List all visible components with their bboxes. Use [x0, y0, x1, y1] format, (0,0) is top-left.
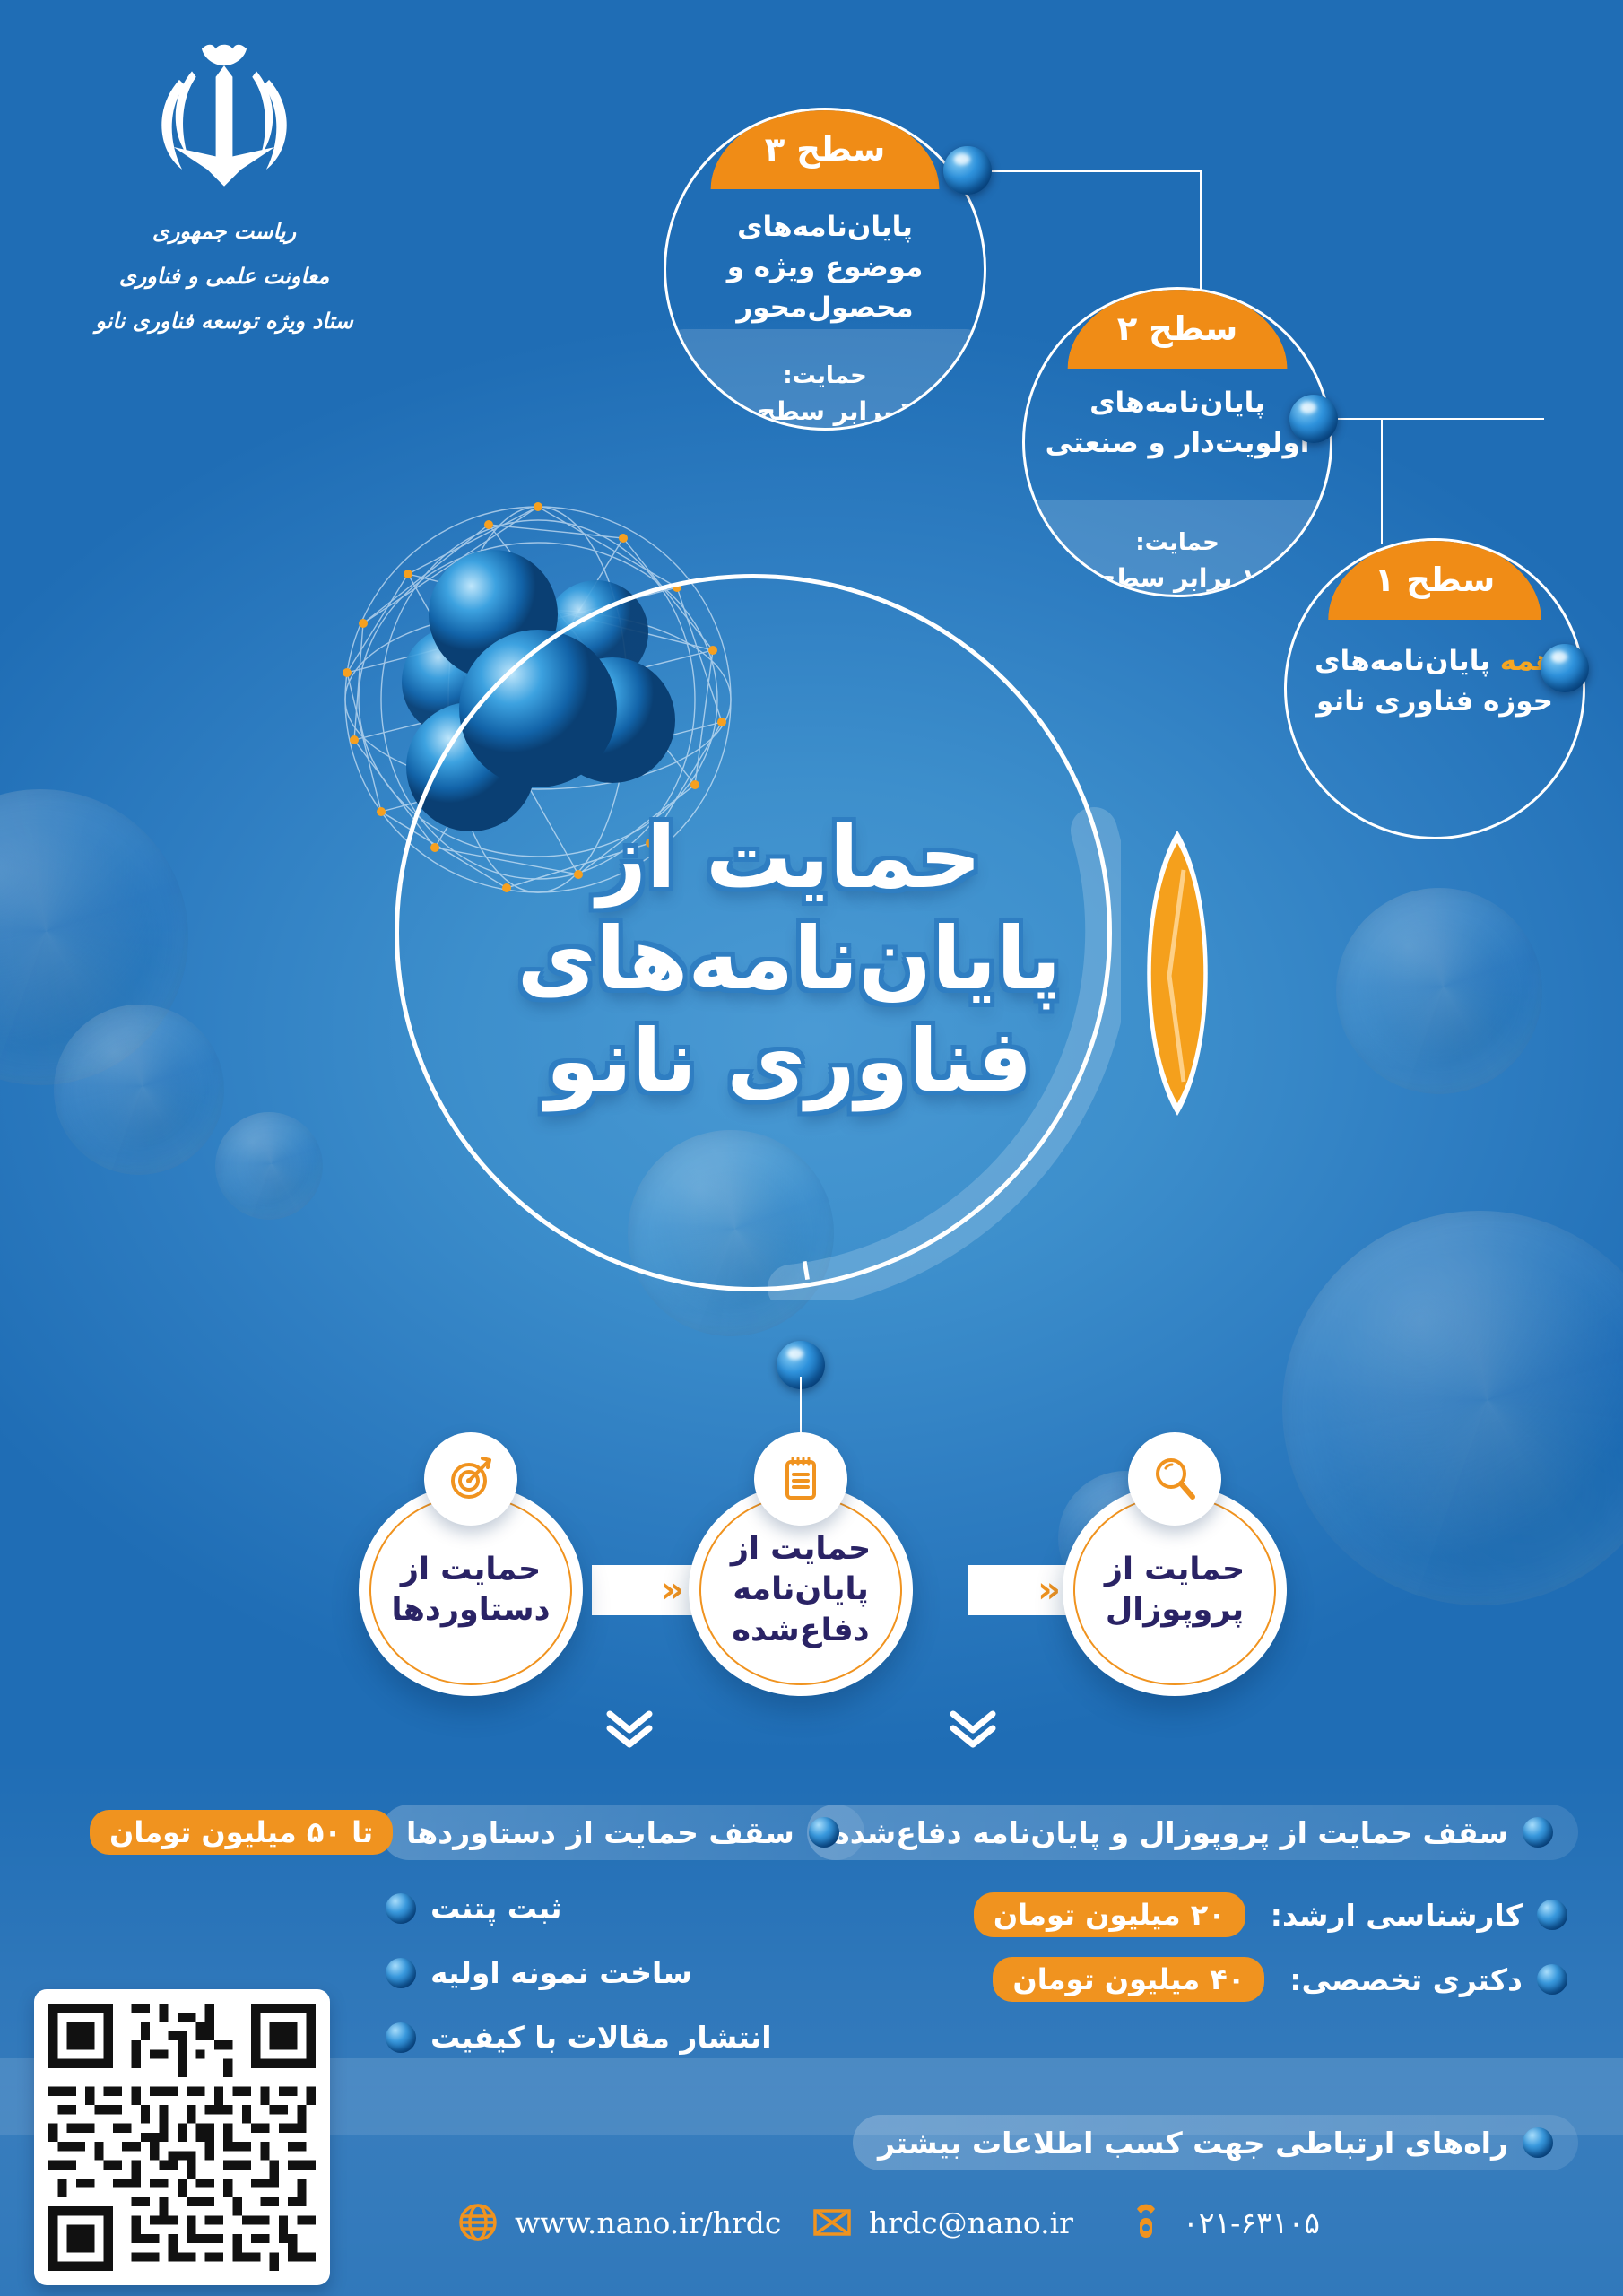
list-item-label: دکتری تخصصی: [1289, 1962, 1523, 1997]
bullet-icon [386, 1958, 416, 1988]
contact-phone[interactable]: ۰۲۱-۶۳۱۰۵ [1125, 2202, 1320, 2243]
level-2-badge: سطح ۲ [1068, 288, 1288, 369]
level-3-support-value: ۲ برابر سطح ۱ [666, 396, 984, 426]
level-3-node [943, 146, 992, 195]
level-3-badge: سطح ۳ [711, 109, 940, 189]
list-item-label: انتشار مقالات با کیفیت [430, 2020, 772, 2055]
bubble-decoration [215, 1112, 323, 1220]
stage-proposal[interactable]: حمایت از پروپوزال [1063, 1484, 1287, 1696]
level-2-support-value: ۱/۵ برابر سطح ۱ [1025, 563, 1330, 593]
level-connector-2-1 [1311, 418, 1544, 420]
level-1-node [1541, 644, 1589, 692]
section-heading-text: سقف حمایت از پروپوزال و پایان‌نامه دفاع‌… [832, 1815, 1508, 1850]
magnifier-icon [1149, 1453, 1201, 1505]
bullet-icon [1537, 1900, 1567, 1930]
title-line-1: حمایت از [502, 807, 1076, 909]
org-line-1: ریاست جمهوری [85, 213, 363, 250]
stage-icon-cap [754, 1432, 847, 1526]
level-3-title: پایان‌نامه‌های موضوع ویژه و محصول‌محور [685, 207, 965, 328]
contact-email[interactable]: hrdc@nano.ir [811, 2202, 1073, 2243]
stage-defended-thesis[interactable]: حمایت از پایان‌نامه دفاع‌شده [689, 1484, 913, 1696]
title-line-3: فناوری نانو [502, 1011, 1076, 1112]
stage-achievements[interactable]: حمایت از دستاوردها [359, 1484, 583, 1696]
footer-heading: راه‌های ارتباطی جهت کسب اطلاعات بیشتر [853, 2115, 1578, 2170]
stage-arrow-icon: « [661, 1570, 684, 1611]
level-connector-2-1-down [1381, 418, 1383, 544]
level-2-support: حمایت: ۱/۵ برابر سطح ۱ [1025, 520, 1330, 595]
email-text: hrdc@nano.ir [869, 2205, 1073, 2240]
amount-badge: ۴۰ میلیون تومان [993, 1957, 1264, 2002]
globe-icon [457, 2202, 499, 2243]
list-item-papers: انتشار مقالات با کیفیت [386, 2020, 772, 2055]
stage-icon-cap [424, 1432, 517, 1526]
amount-badge: ۲۰ میلیون تومان [974, 1892, 1245, 1937]
achievements-amount-badge: تا ۵۰ میلیون تومان [90, 1810, 393, 1855]
ring-lens-marker [1128, 825, 1227, 1121]
stage-icon-cap [1128, 1432, 1221, 1526]
level-1-title: همه پایان‌نامه‌های حوزه فناوری نانو [1305, 641, 1565, 722]
bullet-icon [386, 2022, 416, 2053]
list-item-label: کارشناسی ارشد: [1271, 1898, 1523, 1933]
chevron-down-icon [946, 1709, 1000, 1750]
list-item-phd: دکتری تخصصی: ۴۰ میلیون تومان [993, 1957, 1567, 2002]
title-line-2: پایان‌نامه‌های [502, 909, 1076, 1010]
list-item-patent: ثبت پتنت [386, 1891, 562, 1926]
stage-label: حمایت از دستاوردها [359, 1550, 583, 1631]
qr-code-panel[interactable] [34, 1989, 330, 2285]
level-connector-3-2-down [1200, 170, 1202, 305]
page-title: حمایت از پایان‌نامه‌های فناوری نانو [502, 807, 1076, 1112]
section-heading-achievements-cap: سقف حمایت از دستاوردها [381, 1805, 864, 1860]
bullet-icon [386, 1893, 416, 1924]
level-card-2[interactable]: سطح ۲ پایان‌نامه‌های اولویت‌دار و صنعتی … [1022, 287, 1332, 597]
section-heading-text: سقف حمایت از دستاوردها [406, 1815, 794, 1850]
phone-text: ۰۲۱-۶۳۱۰۵ [1183, 2205, 1320, 2240]
org-line-3: ستاد ویژه توسعه فناوری نانو [85, 302, 363, 340]
qr-code-icon [48, 2004, 316, 2271]
list-item-label: ساخت نمونه اولیه [430, 1955, 692, 1990]
bubble-decoration [54, 1004, 224, 1175]
bullet-icon [809, 1817, 839, 1848]
target-icon [445, 1453, 497, 1505]
level-3-support: حمایت: ۲ برابر سطح ۱ [666, 353, 984, 428]
organization-branding: ریاست جمهوری معاونت علمی و فناوری ستاد و… [85, 40, 363, 340]
level-2-support-label: حمایت: [1025, 529, 1330, 556]
stage-arrow-icon: « [1037, 1570, 1061, 1611]
stage-label: حمایت از پروپوزال [1063, 1550, 1287, 1631]
bullet-icon [1523, 2127, 1553, 2158]
bubble-decoration [0, 789, 188, 1085]
telephone-icon [1125, 2202, 1167, 2243]
bubble-decoration [1336, 888, 1542, 1094]
list-item-label: ثبت پتنت [430, 1891, 562, 1926]
chevron-down-icon [603, 1709, 656, 1750]
level-3-support-label: حمایت: [666, 362, 984, 389]
envelope-icon [811, 2202, 853, 2243]
bullet-icon [1523, 1817, 1553, 1848]
bubble-decoration [1282, 1211, 1623, 1605]
level-card-3[interactable]: سطح ۳ پایان‌نامه‌های موضوع ویژه و محصول‌… [664, 108, 986, 430]
level-2-node [1289, 395, 1338, 443]
level-1-badge: سطح ۱ [1328, 539, 1541, 620]
org-line-2: معاونت علمی و فناوری [85, 257, 363, 295]
poster-canvas: ریاست جمهوری معاونت علمی و فناوری ستاد و… [0, 0, 1623, 2296]
level-connector-3-2 [967, 170, 1202, 172]
level-2-title: پایان‌نامه‌های اولویت‌دار و صنعتی [1043, 383, 1311, 464]
website-text: www.nano.ir/hrdc [515, 2205, 781, 2240]
bullet-icon [1537, 1964, 1567, 1995]
iran-emblem-icon [139, 40, 309, 202]
stage-label: حمایت از پایان‌نامه دفاع‌شده [689, 1529, 913, 1652]
clipboard-icon [775, 1453, 827, 1505]
list-item-masters: کارشناسی ارشد: ۲۰ میلیون تومان [974, 1892, 1567, 1937]
section-heading-proposal-cap: سقف حمایت از پروپوزال و پایان‌نامه دفاع‌… [807, 1805, 1578, 1860]
footer-heading-text: راه‌های ارتباطی جهت کسب اطلاعات بیشتر [878, 2126, 1508, 2161]
contact-website[interactable]: www.nano.ir/hrdc [457, 2202, 781, 2243]
list-item-prototype: ساخت نمونه اولیه [386, 1955, 692, 1990]
